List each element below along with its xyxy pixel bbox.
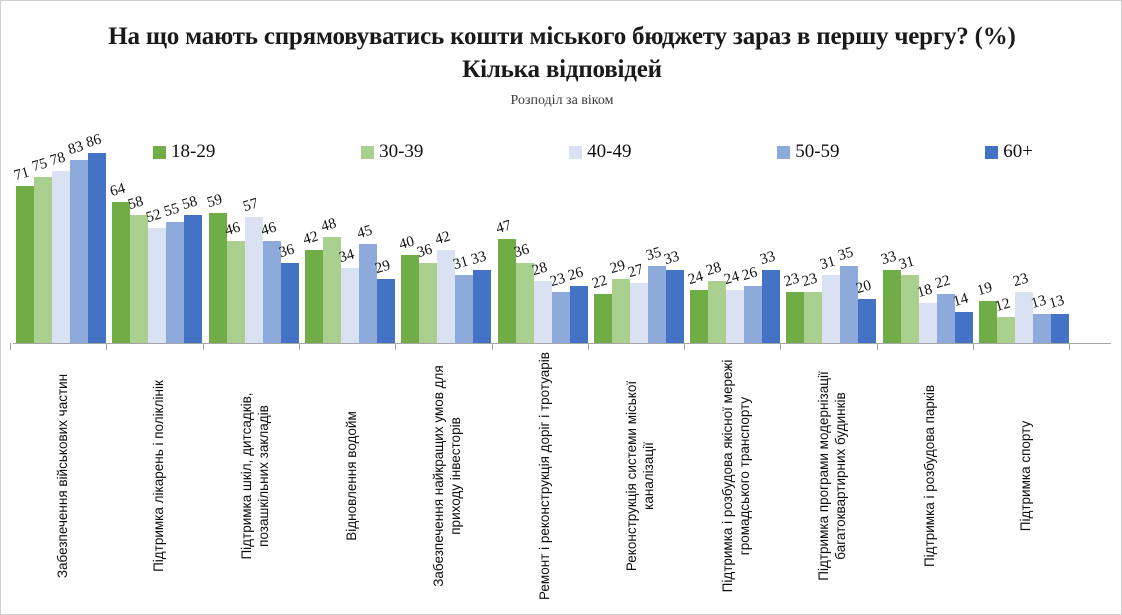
axis-tick bbox=[10, 343, 11, 350]
bar[interactable] bbox=[708, 281, 726, 343]
bar-value-label: 26 bbox=[566, 264, 585, 284]
axis-tick bbox=[299, 343, 300, 350]
bar-value-label: 33 bbox=[470, 249, 489, 269]
plot-area: 7175788386645852555859465746364248344529… bbox=[13, 131, 1111, 343]
bar[interactable] bbox=[209, 213, 227, 343]
bar-group: 2229273533 bbox=[594, 131, 690, 343]
bar[interactable] bbox=[690, 290, 708, 343]
category-label: Ремонт і реконструкція доріг і тротуарів bbox=[497, 351, 593, 601]
bar[interactable] bbox=[594, 294, 612, 343]
category-label-text: Підтримка шкіл, дитсадків, позашкільних … bbox=[239, 351, 273, 601]
bar[interactable] bbox=[323, 237, 341, 343]
bar[interactable] bbox=[804, 292, 822, 343]
bar-group: 4036423133 bbox=[401, 131, 497, 343]
bar-value-label: 64 bbox=[109, 180, 128, 200]
bar[interactable] bbox=[979, 301, 997, 343]
bar-group: 3331182214 bbox=[883, 131, 979, 343]
bar-group: 7175788386 bbox=[16, 131, 112, 343]
bar[interactable] bbox=[630, 283, 648, 343]
bar[interactable] bbox=[34, 177, 52, 343]
bar-value-label: 58 bbox=[181, 193, 200, 213]
axis-tick bbox=[203, 343, 204, 350]
bar-group: 6458525558 bbox=[112, 131, 208, 343]
bar[interactable] bbox=[341, 268, 359, 343]
bar-value-label: 86 bbox=[84, 132, 103, 152]
bar[interactable] bbox=[822, 275, 840, 343]
bar-value-label: 23 bbox=[783, 271, 802, 291]
bar[interactable] bbox=[1033, 314, 1051, 343]
bar[interactable] bbox=[227, 241, 245, 343]
title-block: На що мають спрямовуватись кошти міськог… bbox=[1, 21, 1122, 86]
bar-group: 4248344529 bbox=[305, 131, 401, 343]
category-label-text: Забезпечення військових частин bbox=[55, 351, 72, 601]
bar[interactable] bbox=[762, 270, 780, 343]
category-label: Забезпечення військових частин bbox=[15, 351, 111, 601]
axis-tick bbox=[684, 343, 685, 350]
category-label-text: Відновлення водойм bbox=[343, 351, 360, 601]
bar[interactable] bbox=[16, 186, 34, 343]
bar[interactable] bbox=[359, 244, 377, 343]
bar[interactable] bbox=[245, 217, 263, 343]
bar-group: 5946574636 bbox=[209, 131, 305, 343]
bar[interactable] bbox=[473, 270, 491, 343]
category-axis-labels: Забезпечення військових частинПідтримка … bbox=[13, 353, 1111, 603]
category-label-text: Підтримка і розбудова парків bbox=[921, 351, 938, 601]
category-label: Підтримка спорту bbox=[978, 351, 1074, 601]
bar[interactable] bbox=[1015, 292, 1033, 343]
bar-value-label: 24 bbox=[686, 269, 705, 289]
axis-tick bbox=[780, 343, 781, 350]
bar-value-label: 33 bbox=[758, 249, 777, 269]
bar-value-label: 83 bbox=[66, 138, 85, 158]
category-label-text: Підтримка спорту bbox=[1018, 351, 1035, 601]
bar[interactable] bbox=[70, 160, 88, 343]
axis-tick bbox=[877, 343, 878, 350]
chart-root: На що мають спрямовуватись кошти міськог… bbox=[0, 0, 1122, 615]
bar[interactable] bbox=[570, 286, 588, 343]
bar-group: 4736282326 bbox=[498, 131, 594, 343]
bar-value-label: 31 bbox=[819, 253, 838, 273]
bar-group: 2428242633 bbox=[690, 131, 786, 343]
category-label: Підтримка і розбудова парків bbox=[882, 351, 978, 601]
bar-value-label: 23 bbox=[801, 271, 820, 291]
x-axis-line bbox=[13, 343, 1111, 344]
category-label: Підтримка і розбудова якісної мережі гро… bbox=[689, 351, 785, 601]
category-label: Підтримка програми модернізації багатокв… bbox=[785, 351, 881, 601]
bar-value-label: 42 bbox=[301, 229, 320, 249]
axis-tick bbox=[106, 343, 107, 350]
bar[interactable] bbox=[666, 270, 684, 343]
bar[interactable] bbox=[1051, 314, 1069, 343]
bar[interactable] bbox=[901, 275, 919, 343]
bar[interactable] bbox=[997, 317, 1015, 344]
bar-value-label: 13 bbox=[1047, 293, 1066, 313]
bar-value-label: 59 bbox=[205, 191, 224, 211]
bar-group: 1912231313 bbox=[979, 131, 1075, 343]
bar[interactable] bbox=[377, 279, 395, 343]
axis-tick bbox=[395, 343, 396, 350]
bar-value-label: 22 bbox=[933, 273, 952, 293]
category-label-text: Підтримка і розбудова якісної мережі гро… bbox=[720, 351, 754, 601]
category-label: Підтримка шкіл, дитсадків, позашкільних … bbox=[208, 351, 304, 601]
bar-value-label: 40 bbox=[398, 233, 417, 253]
bar[interactable] bbox=[112, 202, 130, 343]
bar[interactable] bbox=[305, 250, 323, 343]
bar[interactable] bbox=[534, 281, 552, 343]
category-label: Реконструкція системи міської каналізаці… bbox=[593, 351, 689, 601]
bar-value-label: 75 bbox=[30, 156, 49, 176]
bar[interactable] bbox=[130, 215, 148, 343]
bar[interactable] bbox=[437, 250, 455, 343]
bar-value-label: 19 bbox=[975, 280, 994, 300]
bar[interactable] bbox=[184, 215, 202, 343]
bar-value-label: 35 bbox=[837, 244, 856, 264]
category-label: Підтримка лікарень і поліклінік bbox=[111, 351, 207, 601]
category-label-text: Реконструкція системи міської каналізаці… bbox=[624, 351, 658, 601]
bar[interactable] bbox=[516, 263, 534, 343]
category-label: Відновлення водойм bbox=[304, 351, 400, 601]
bar-value-label: 23 bbox=[1011, 271, 1030, 291]
bar-value-label: 22 bbox=[590, 273, 609, 293]
bar[interactable] bbox=[148, 228, 166, 343]
bar[interactable] bbox=[919, 303, 937, 343]
page-title: На що мають спрямовуватись кошти міськог… bbox=[1, 21, 1122, 86]
axis-tick bbox=[588, 343, 589, 350]
bar[interactable] bbox=[786, 292, 804, 343]
bar[interactable] bbox=[88, 153, 106, 343]
bar[interactable] bbox=[648, 266, 666, 343]
bar-value-label: 42 bbox=[434, 229, 453, 249]
bar[interactable] bbox=[552, 292, 570, 343]
category-label-text: Підтримка лікарень і поліклінік bbox=[151, 351, 168, 601]
category-label-text: Ремонт і реконструкція доріг і тротуарів bbox=[536, 351, 553, 601]
bar-value-label: 28 bbox=[704, 260, 723, 280]
bar[interactable] bbox=[401, 255, 419, 343]
category-label-text: Забезпечення найкращих умов для приходу … bbox=[431, 351, 465, 601]
bar-value-label: 48 bbox=[319, 215, 338, 235]
bar[interactable] bbox=[263, 241, 281, 343]
bar[interactable] bbox=[744, 286, 762, 343]
bar[interactable] bbox=[166, 222, 184, 344]
bar-value-label: 45 bbox=[355, 222, 374, 242]
bar[interactable] bbox=[840, 266, 858, 343]
bar[interactable] bbox=[858, 299, 876, 343]
bar-value-label: 78 bbox=[48, 149, 67, 169]
page-title-line: На що мають спрямовуватись кошти міськог… bbox=[29, 21, 1095, 54]
bar[interactable] bbox=[955, 312, 973, 343]
bar-value-label: 57 bbox=[241, 196, 260, 216]
bar[interactable] bbox=[726, 290, 744, 343]
bar-value-label: 55 bbox=[163, 200, 182, 220]
bar-value-label: 26 bbox=[740, 264, 759, 284]
bar[interactable] bbox=[281, 263, 299, 343]
bar[interactable] bbox=[883, 270, 901, 343]
bar[interactable] bbox=[419, 263, 437, 343]
bar-value-label: 71 bbox=[12, 165, 31, 185]
category-label-text: Підтримка програми модернізації багатокв… bbox=[817, 351, 851, 601]
bar[interactable] bbox=[52, 171, 70, 343]
chart-subtitle: Розподіл за віком bbox=[1, 93, 1122, 109]
bar-value-label: 35 bbox=[644, 244, 663, 264]
bar[interactable] bbox=[612, 279, 630, 343]
bar-value-label: 29 bbox=[608, 257, 627, 277]
bar-value-label: 47 bbox=[494, 218, 513, 238]
bar[interactable] bbox=[498, 239, 516, 343]
bar[interactable] bbox=[937, 294, 955, 343]
axis-tick bbox=[1069, 343, 1070, 350]
category-label: Забезпечення найкращих умов для приходу … bbox=[400, 351, 496, 601]
bar-group: 2323313520 bbox=[786, 131, 882, 343]
bar-value-label: 33 bbox=[879, 249, 898, 269]
page-title-line: Кілька відповідей bbox=[29, 54, 1095, 87]
axis-tick bbox=[973, 343, 974, 350]
axis-tick bbox=[492, 343, 493, 350]
bar[interactable] bbox=[455, 275, 473, 343]
